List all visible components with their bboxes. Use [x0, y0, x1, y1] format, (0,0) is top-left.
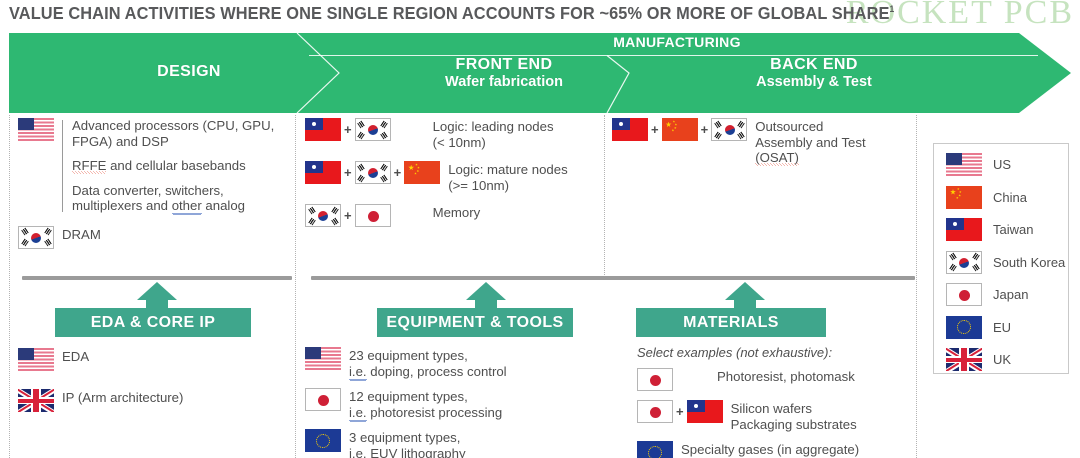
link-ie[interactable]: i.e.	[349, 446, 367, 458]
plus-sign: +	[344, 123, 352, 136]
link-ie[interactable]: i.e.	[349, 364, 367, 380]
us-flag-icon	[305, 347, 341, 370]
plus-sign: +	[676, 405, 684, 418]
eda-items: EDA IP (Arm architecture)	[18, 348, 288, 419]
section-divider-manufacturing	[311, 276, 915, 280]
flagset-jp	[637, 368, 673, 391]
up-arrow-head-equipment	[466, 282, 506, 300]
design-dram-label: DRAM	[54, 226, 101, 243]
flagset-us	[305, 347, 341, 370]
slide-canvas: ROCKET PCB Value chain activities where …	[0, 0, 1080, 458]
legend-row-japan: Japan	[946, 283, 1068, 306]
flagset-us	[18, 348, 54, 371]
plus-sign: +	[344, 166, 352, 179]
banner-manufacturing-label: Manufacturing	[327, 35, 1027, 51]
eda-label: EDA	[54, 348, 89, 365]
up-arrow-head-materials	[725, 282, 765, 300]
china-flag-icon	[662, 118, 698, 141]
south-korea-flag-icon	[946, 251, 982, 274]
equipment-item-eu: 3 equipment types, i.e. EUV lithography	[305, 429, 605, 458]
materials-wafers-label: Silicon wafers Packaging substrates	[723, 400, 857, 432]
taiwan-flag-icon	[946, 218, 982, 241]
equipment-item-japan: 12 equipment types, i.e. photoresist pro…	[305, 388, 605, 420]
flagset-tw-kr-cn: + +	[305, 161, 440, 184]
uk-flag-icon	[18, 389, 54, 412]
materials-note: Select examples (not exhaustive):	[637, 345, 927, 360]
equipment-item-us: 23 equipment types, i.e. doping, process…	[305, 347, 605, 379]
us-flag-icon	[18, 348, 54, 371]
flagset-eu	[637, 441, 673, 458]
legend-row-taiwan: Taiwan	[946, 218, 1068, 241]
eu-flag-icon	[305, 429, 341, 452]
legend-row-uk: UK	[946, 348, 1068, 371]
banner-stage-front-end: Front End Wafer fabrication	[359, 56, 649, 90]
taiwan-flag-icon	[687, 400, 723, 423]
south-korea-flag-icon	[355, 161, 391, 184]
materials-title-box: Materials	[636, 308, 826, 337]
legend-row-china: China	[946, 186, 1068, 209]
design-us-group: Advanced processors (CPU, GPU, FPGA) and…	[18, 118, 290, 214]
japan-flag-icon	[637, 368, 673, 391]
china-flag-icon	[946, 186, 982, 209]
plus-sign: +	[651, 123, 659, 136]
taiwan-flag-icon	[305, 118, 341, 141]
design-item-rffe: RFFE and cellular basebands	[72, 158, 274, 174]
equipment-us-label: 23 equipment types, i.e. doping, process…	[341, 347, 507, 379]
equipment-tools-title: Equipment & Tools	[386, 314, 563, 332]
equipment-eu-label: 3 equipment types, i.e. EUV lithography	[341, 429, 466, 458]
japan-flag-icon	[305, 388, 341, 411]
design-item-dram: DRAM	[18, 226, 290, 249]
taiwan-flag-icon	[612, 118, 648, 141]
value-chain-banner: Manufacturing Design Front End Wafer fab…	[9, 33, 1071, 113]
plus-sign: +	[394, 166, 402, 179]
taiwan-flag-icon	[305, 161, 341, 184]
japan-flag-icon	[355, 204, 391, 227]
flagset-eu	[305, 429, 341, 452]
link-other[interactable]: other	[172, 198, 202, 214]
frontend-memory-label: Memory	[391, 204, 481, 221]
japan-flag-icon	[637, 400, 673, 423]
legend-row-eu: EU	[946, 316, 1068, 339]
frontend-mature-nodes-label: Logic: mature nodes (>= 10nm)	[440, 161, 568, 193]
page-title-text: Value chain activities where one single …	[9, 3, 890, 23]
eda-item-ip: IP (Arm architecture)	[18, 389, 288, 412]
backend-item-osat: + + Outsourced A	[612, 118, 912, 166]
legend-label-us: US	[982, 157, 1011, 172]
eda-core-ip-title: EDA & Core IP	[91, 314, 216, 332]
design-us-items: Advanced processors (CPU, GPU, FPGA) and…	[63, 118, 274, 214]
link-ie[interactable]: i.e.	[349, 405, 367, 421]
japan-flag-icon	[946, 283, 982, 306]
materials-title: Materials	[683, 314, 779, 332]
frontend-item-memory: + Memory	[305, 204, 595, 227]
spellcheck-osat: (OSAT)	[755, 150, 799, 166]
banner-stage-back-end: Back End Assembly & Test	[669, 56, 959, 90]
column-back-end-content: + + Outsourced A	[612, 118, 912, 173]
equipment-japan-label: 12 equipment types, i.e. photoresist pro…	[341, 388, 502, 420]
materials-item-japan: Photoresist, photomask	[637, 368, 927, 391]
materials-gases-label: Specialty gases (in aggregate)	[673, 441, 859, 458]
flagset-jp	[305, 388, 341, 411]
legend-row-us: US	[946, 153, 1068, 176]
plus-sign: +	[701, 123, 709, 136]
legend-label-japan: Japan	[982, 287, 1028, 302]
flagset-tw-kr: +	[305, 118, 391, 141]
eda-core-ip-title-box: EDA & Core IP	[55, 308, 251, 337]
banner-stage-design: Design	[49, 63, 329, 81]
uk-flag-icon	[946, 348, 982, 371]
flagset-kr	[18, 226, 54, 249]
south-korea-flag-icon	[711, 118, 747, 141]
banner-stage-design-name: Design	[49, 63, 329, 81]
materials-items: Select examples (not exhaustive): Photor…	[637, 345, 927, 458]
banner-stage-front-end-sub: Wafer fabrication	[359, 74, 649, 90]
china-flag-icon	[404, 161, 440, 184]
eu-flag-icon	[946, 316, 982, 339]
backend-osat-label: Outsourced Assembly and Test (OSAT)	[747, 118, 865, 166]
equipment-tools-title-box: Equipment & Tools	[377, 308, 573, 337]
materials-photoresist-label: Photoresist, photomask	[673, 368, 855, 385]
south-korea-flag-icon	[355, 118, 391, 141]
frontend-item-leading-nodes: + Logic: leading nodes (< 10nm)	[305, 118, 595, 150]
design-item-analog: Data converter, switchers, multiplexers …	[72, 183, 274, 214]
ip-arm-label: IP (Arm architecture)	[54, 389, 183, 406]
materials-item-eu: Specialty gases (in aggregate)	[637, 441, 927, 458]
frontend-leading-nodes-label: Logic: leading nodes (< 10nm)	[391, 118, 554, 150]
plus-sign: +	[344, 209, 352, 222]
column-divider-left	[9, 115, 10, 458]
design-item-processors: Advanced processors (CPU, GPU, FPGA) and…	[72, 118, 274, 149]
country-legend: US China Taiwan South Korea	[933, 143, 1069, 374]
up-arrow-head-eda	[137, 282, 177, 300]
section-divider-design	[22, 276, 292, 280]
column-divider-frontend-backend	[604, 115, 605, 275]
equipment-items: 23 equipment types, i.e. doping, process…	[305, 347, 605, 458]
banner-stage-front-end-name: Front End	[359, 56, 649, 74]
legend-label-taiwan: Taiwan	[982, 222, 1033, 237]
legend-label-china: China	[982, 190, 1027, 205]
flagset-tw-cn-kr: + +	[612, 118, 747, 141]
flagset-jp-tw: +	[637, 400, 723, 423]
spellcheck-rffe: RFFE	[72, 158, 106, 174]
legend-row-south-korea: South Korea	[946, 251, 1068, 274]
eu-flag-icon	[637, 441, 673, 458]
banner-stage-back-end-sub: Assembly & Test	[669, 74, 959, 90]
eda-item-eda: EDA	[18, 348, 288, 371]
materials-item-japan-taiwan: + Silicon wafers Packaging substrates	[637, 400, 927, 432]
frontend-item-mature-nodes: + + Logic: mature nodes	[305, 161, 595, 193]
column-design-content: Advanced processors (CPU, GPU, FPGA) and…	[18, 118, 290, 256]
flagset-uk	[18, 389, 54, 412]
flagset-kr-jp: +	[305, 204, 391, 227]
page-title-footnote-marker: 1	[890, 4, 895, 14]
page-title: Value chain activities where one single …	[9, 3, 894, 24]
legend-label-south-korea: South Korea	[982, 255, 1065, 270]
south-korea-flag-icon	[18, 226, 54, 249]
us-flag-icon	[946, 153, 982, 176]
banner-stage-back-end-name: Back End	[669, 56, 959, 74]
legend-label-uk: UK	[982, 352, 1011, 367]
legend-label-eu: EU	[982, 320, 1011, 335]
column-divider-design-frontend	[295, 115, 296, 458]
south-korea-flag-icon	[305, 204, 341, 227]
column-front-end-content: + Logic: leading nodes (< 10nm) +	[305, 118, 595, 234]
us-flag-icon	[18, 118, 54, 141]
